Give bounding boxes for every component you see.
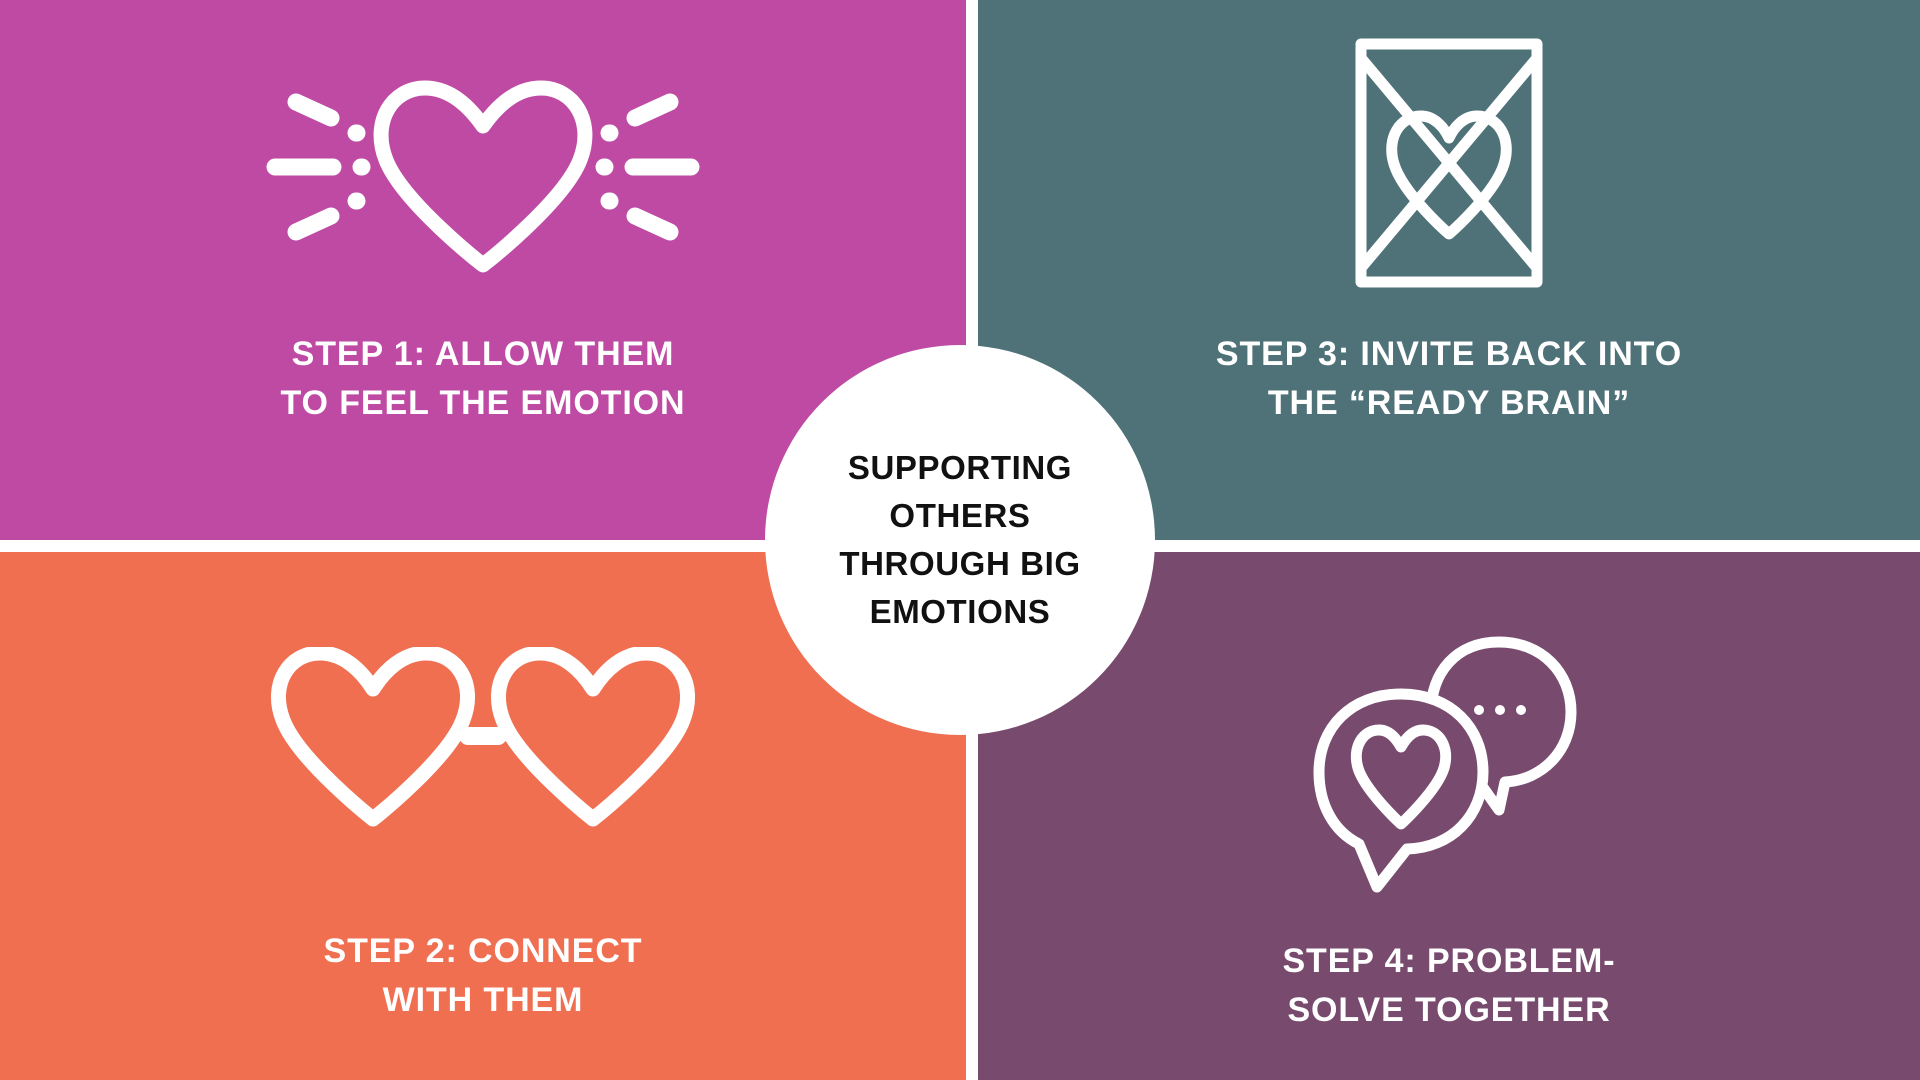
- envelope-with-heart-icon: [978, 28, 1920, 298]
- speech-bubbles-with-heart-icon: [978, 632, 1920, 902]
- step-2-label: STEP 2: CONNECT WITH THEM: [0, 927, 966, 1026]
- step-3-label: STEP 3: INVITE BACK INTO THE “READY BRAI…: [978, 330, 1920, 429]
- infographic-canvas: STEP 1: ALLOW THEM TO FEEL THE EMOTION S…: [0, 0, 1920, 1080]
- center-title: SUPPORTING OTHERS THROUGH BIG EMOTIONS: [817, 444, 1102, 635]
- step-4-label: STEP 4: PROBLEM- SOLVE TOGETHER: [978, 937, 1920, 1036]
- heart-with-sparkles-icon: [0, 40, 966, 290]
- center-circle-badge: SUPPORTING OTHERS THROUGH BIG EMOTIONS: [765, 345, 1155, 735]
